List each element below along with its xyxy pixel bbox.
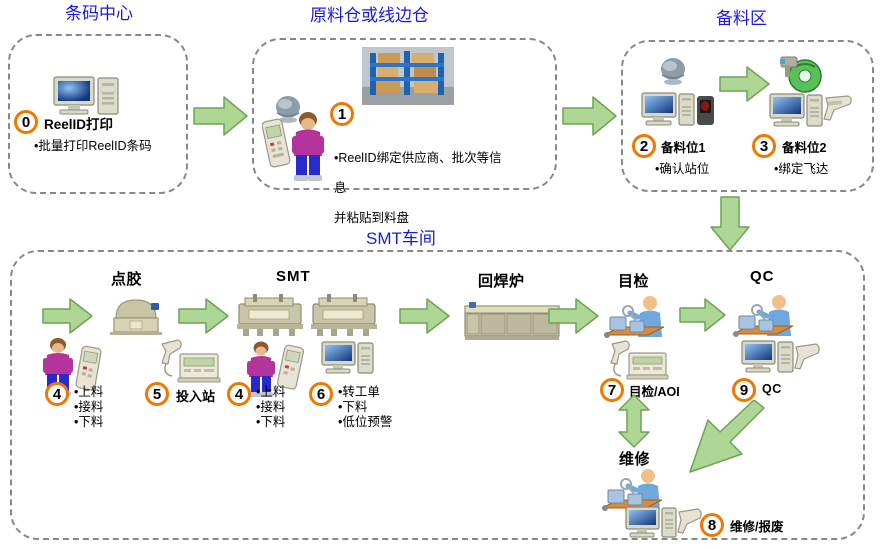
arrow-qc-to-repair xyxy=(668,400,770,486)
arrow-reflow-to-inspection xyxy=(548,297,600,335)
step-badge-6: 6 xyxy=(309,382,333,406)
step-label-8: 维修/报废 xyxy=(730,516,783,535)
inspection-workbench-icon xyxy=(602,295,672,343)
smt-placement-machine-icon-1 xyxy=(235,294,305,338)
warehouse-rack-image xyxy=(362,47,454,105)
step-badge-5: 5 xyxy=(145,382,169,406)
smt-placement-machine-icon-2 xyxy=(309,294,379,338)
step-badge-1: 1 xyxy=(330,102,354,126)
step-badge-3: 3 xyxy=(752,134,776,158)
desktop-computer-icon-smt xyxy=(320,340,384,378)
step-bullets-4a: •上料 •接料 •下料 xyxy=(74,385,103,430)
arrow-barcode-to-warehouse xyxy=(193,95,249,137)
step-badge-8: 8 xyxy=(700,513,724,537)
step-label-5: 投入站 xyxy=(176,386,215,405)
step-label-9: QC xyxy=(762,382,782,396)
zone-title-smt-workshop: SMT车间 xyxy=(361,229,441,249)
step-badge-9: 9 xyxy=(732,378,756,402)
step-label-2: 备料位1 xyxy=(661,137,705,156)
arrow-smt-to-reflow xyxy=(399,297,451,335)
zone-title-material-warehouse: 原料仓或线边仓 xyxy=(305,6,434,26)
step-badge-2: 2 xyxy=(632,134,656,158)
step-badge-4a: 4 xyxy=(45,382,69,406)
step-badge-0: 0 xyxy=(14,110,38,134)
dispensing-machine-icon xyxy=(106,294,166,336)
station-name-visual-inspection: 目检 xyxy=(618,270,649,291)
prep-station2-computer-icon xyxy=(768,92,854,132)
arrow-prep1-to-prep2 xyxy=(719,65,771,103)
step-bullets-3: •绑定飞达 xyxy=(774,162,828,177)
zone-title-prep-area: 备料区 xyxy=(711,9,772,29)
inspection-scanner-computer-icon xyxy=(608,340,670,382)
qc-workbench-icon xyxy=(731,294,801,342)
station-name-dispensing: 点胶 xyxy=(111,268,142,289)
step-bullets-0: •批量打印ReelID条码 xyxy=(34,139,152,154)
station-name-repair: 维修 xyxy=(619,448,650,469)
repair-computer-scanner-icon xyxy=(624,505,706,545)
arrow-inspection-to-qc xyxy=(679,297,727,333)
arrow-dispensing-to-smt xyxy=(178,297,230,335)
arrow-warehouse-to-prep xyxy=(562,95,618,137)
step-label-3: 备料位2 xyxy=(782,137,826,156)
step-bullets-2: •确认站位 xyxy=(655,162,709,177)
zone-title-barcode-center: 条码中心 xyxy=(60,4,138,24)
step-badge-4b: 4 xyxy=(227,382,251,406)
station-name-reflow-oven: 回焊炉 xyxy=(478,270,525,291)
feeder-reel-icon xyxy=(777,53,827,95)
worker-operator-icon xyxy=(288,110,328,182)
prep-station1-computer-icon xyxy=(640,91,716,131)
input-station-scanner-icon xyxy=(158,338,222,386)
network-globe-icon-prep xyxy=(657,57,689,87)
arrow-inspection-repair-bidirectional xyxy=(616,394,652,448)
reflow-oven-icon xyxy=(463,300,561,342)
step1-line1: •ReelID绑定供应商、批次等信 xyxy=(334,151,524,166)
step-bullets-6: •转工单 •下料 •低位预警 xyxy=(338,385,392,430)
step-label-0: ReelID打印 xyxy=(44,113,113,133)
step1-line3: 并粘贴到料盘 xyxy=(334,211,524,226)
arrow-prep-to-smt-workshop xyxy=(709,196,751,252)
flowchart-canvas: 条码中心 0 ReelID打印 •批量打印ReelID条码 原料仓或线边仓 xyxy=(0,0,885,548)
desktop-computer-icon xyxy=(52,75,124,117)
station-name-smt: SMT xyxy=(276,268,311,285)
step1-line2: 息 xyxy=(334,181,524,196)
step-bullets-1: •ReelID绑定供应商、批次等信 息 并粘贴到料盘 xyxy=(334,136,524,241)
qc-computer-scanner-icon xyxy=(740,339,822,381)
station-name-qc: QC xyxy=(750,268,775,285)
arrow-into-dispensing xyxy=(42,297,94,335)
step-bullets-4b: •上料 •接料 •下料 xyxy=(256,385,285,430)
